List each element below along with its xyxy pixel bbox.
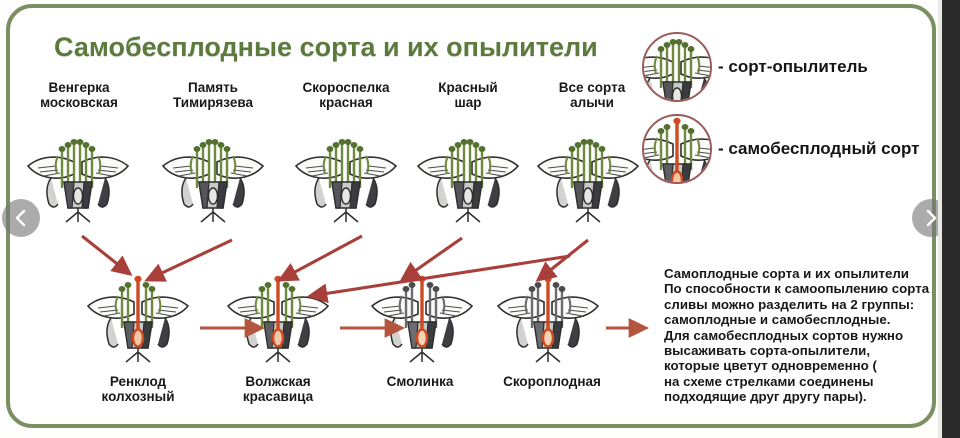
poster-frame: Самобесплодные сорта и их опылители Венг… [6, 4, 936, 428]
crop-label-pollinator-2: Скороспелка красная [278, 80, 414, 110]
crop-label-pollinator-0: Венгерка московская [14, 80, 144, 110]
crop-label-self-sterile-1: Волжская красавица [210, 374, 346, 404]
legend-item-self-sterile: - самобесплодный сорт [642, 114, 920, 184]
description-line-1: По способности к самоопылению сорта [664, 281, 940, 296]
crop-label-self-sterile-0: Ренклод колхозный [70, 374, 206, 404]
page-title: Самобесплодные сорта и их опылители [54, 32, 614, 63]
label-line-1: Память [148, 80, 278, 95]
legend-item-pollinator: - сорт-опылитель [642, 32, 868, 102]
description-line-8: подходящие друг другу пары). [664, 389, 940, 404]
flower-pollinator-4 [528, 116, 648, 224]
flower-pollinator-3 [408, 116, 528, 224]
label-line-1: Смолинка [355, 374, 485, 389]
label-line-1: Все сорта [537, 80, 647, 95]
flower-pollinator-2 [286, 116, 406, 224]
flower-self-sterile-icon [642, 114, 712, 184]
label-line-2: московская [14, 95, 144, 110]
slide-viewer: Самобесплодные сорта и их опылители Венг… [0, 0, 960, 438]
flower-self-sterile-1 [218, 256, 338, 364]
description-line-5: высаживать сорта-опылители, [664, 343, 940, 358]
poster-content: Самобесплодные сорта и их опылители Венг… [10, 8, 940, 432]
flower-self-sterile-0 [78, 256, 198, 364]
viewer-right-strip [942, 0, 960, 438]
label-line-1: Скороспелка [278, 80, 414, 95]
label-line-2: колхозный [70, 389, 206, 404]
label-line-1: Ренклод [70, 374, 206, 389]
description-line-6: которые цветут одновременно ( [664, 358, 940, 373]
flower-pollinator-1 [153, 116, 273, 224]
label-line-2: красавица [210, 389, 346, 404]
description-text: Самоплодные сорта и их опылители По спос… [664, 266, 940, 405]
crop-label-pollinator-1: Память Тимирязева [148, 80, 278, 110]
label-line-2: шар [413, 95, 523, 110]
legend-label: - самобесплодный сорт [718, 139, 920, 159]
flower-pollinator-icon [642, 32, 712, 102]
description-line-4: Для самобесплодных сортов нужно [664, 328, 940, 343]
chevron-left-icon [11, 208, 31, 228]
description-line-3: самоплодные и самобесплодные. [664, 312, 940, 327]
description-line-0: Самоплодные сорта и их опылители [664, 266, 940, 281]
crop-label-pollinator-4: Все сорта алычи [537, 80, 647, 110]
description-line-2: сливы можно разделить на 2 группы: [664, 297, 940, 312]
crop-label-self-sterile-2: Смолинка [355, 374, 485, 389]
label-line-1: Скороплодная [482, 374, 622, 389]
crop-label-pollinator-3: Красный шар [413, 80, 523, 110]
legend-label: - сорт-опылитель [718, 57, 868, 77]
description-line-7: на схеме стрелками соединены [664, 374, 940, 389]
label-line-1: Красный [413, 80, 523, 95]
label-line-2: алычи [537, 95, 647, 110]
label-line-1: Волжская [210, 374, 346, 389]
label-line-1: Венгерка [14, 80, 144, 95]
label-line-2: красная [278, 95, 414, 110]
crop-label-self-sterile-3: Скороплодная [482, 374, 622, 389]
prev-slide-button[interactable] [2, 199, 40, 237]
flower-self-sterile-2 [362, 256, 482, 364]
flower-self-sterile-3 [488, 256, 608, 364]
label-line-2: Тимирязева [148, 95, 278, 110]
